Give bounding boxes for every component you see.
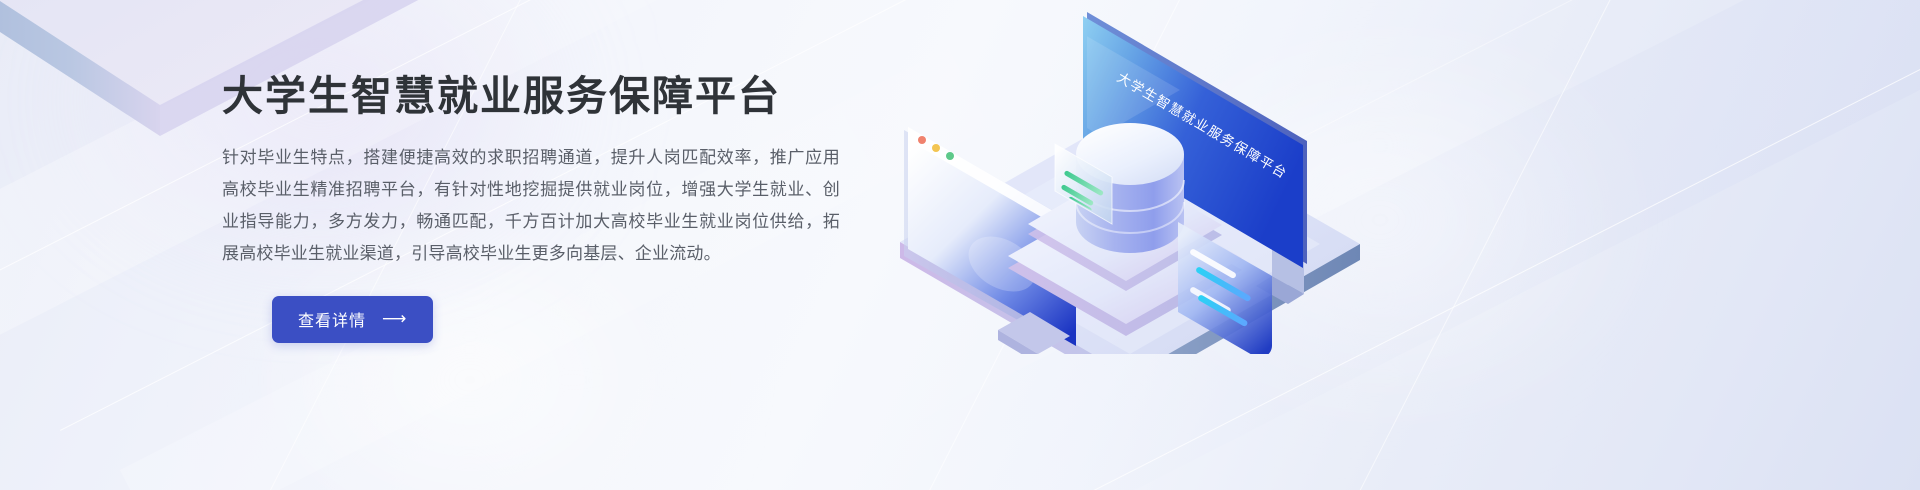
red-dot-icon (918, 136, 926, 144)
view-details-label: 查看详情 (298, 307, 366, 331)
isometric-illustration: 大学生智慧就业服务保障平台 (880, 0, 1400, 354)
view-details-button[interactable]: 查看详情 ⟶ (272, 296, 433, 343)
banner-content: 大学生智慧就业服务保障平台 针对毕业生特点，搭建便捷高效的求职招聘通道，提升人岗… (222, 72, 862, 343)
yellow-dot-icon (932, 144, 940, 152)
hero-banner: 大学生智慧就业服务保障平台 针对毕业生特点，搭建便捷高效的求职招聘通道，提升人岗… (0, 0, 1920, 490)
page-title: 大学生智慧就业服务保障平台 (222, 72, 862, 121)
green-dot-icon (946, 152, 954, 160)
arrow-right-icon: ⟶ (382, 310, 407, 327)
banner-description: 针对毕业生特点，搭建便捷高效的求职招聘通道，提升人岗匹配效率，推广应用高校毕业生… (222, 142, 840, 270)
illustration-svg: 大学生智慧就业服务保障平台 (880, 0, 1400, 354)
